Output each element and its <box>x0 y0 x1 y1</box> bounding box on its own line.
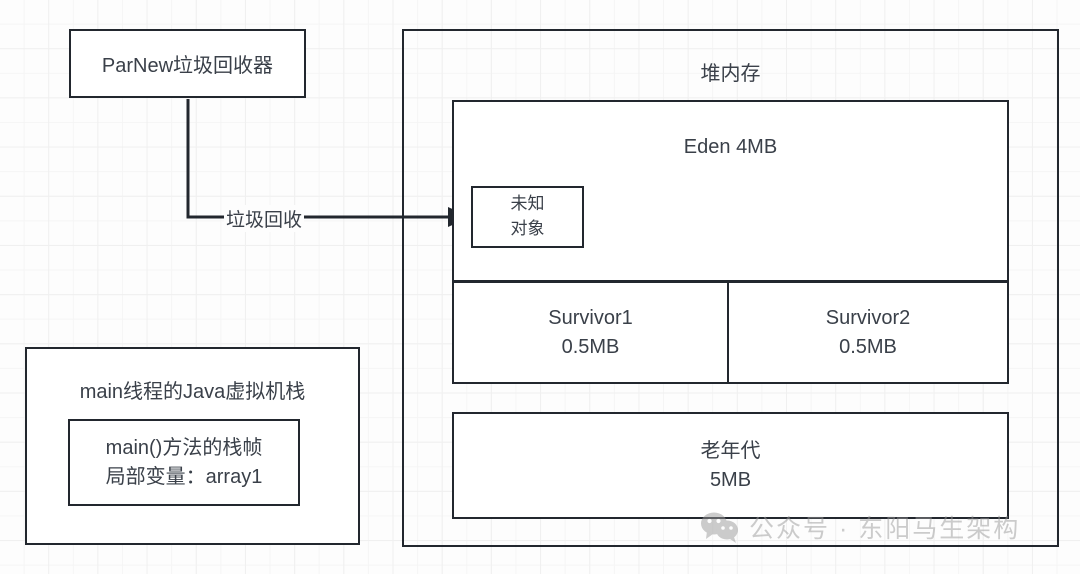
survivor2-size: 0.5MB <box>839 333 897 362</box>
stack-frame-line-2: 局部变量：array1 <box>106 463 263 491</box>
old-generation-box: 老年代 5MB <box>452 412 1009 519</box>
survivor2-cell: Survivor2 0.5MB <box>729 283 1007 382</box>
gc-edge-label: 垃圾回收 <box>224 205 304 232</box>
heap-memory-title: 堆内存 <box>404 57 1057 86</box>
jvm-stack-title: main线程的Java虚拟机栈 <box>27 375 358 404</box>
survivor-row: Survivor1 0.5MB Survivor2 0.5MB <box>452 281 1009 384</box>
watermark-text: 公众号 · 东阳马生架构 <box>749 509 1020 545</box>
survivor1-size: 0.5MB <box>562 333 620 362</box>
watermark: 公众号 · 东阳马生架构 <box>700 509 1020 545</box>
parnew-collector-box: ParNew垃圾回收器 <box>69 29 306 98</box>
survivor1-name: Survivor1 <box>548 304 632 333</box>
wechat-icon <box>700 511 740 543</box>
survivor2-name: Survivor2 <box>826 304 910 333</box>
old-generation-name: 老年代 <box>701 437 761 466</box>
unknown-object-line-1: 未知 <box>511 192 545 217</box>
stack-frame-line-1: main()方法的栈帧 <box>106 434 263 462</box>
old-generation-size: 5MB <box>710 466 751 495</box>
parnew-collector-label: ParNew垃圾回收器 <box>102 49 273 78</box>
unknown-object-box: 未知 对象 <box>471 186 584 248</box>
stack-frame-box: main()方法的栈帧 局部变量：array1 <box>68 419 300 506</box>
unknown-object-line-2: 对象 <box>511 217 545 242</box>
survivor1-cell: Survivor1 0.5MB <box>454 283 729 382</box>
diagram-canvas: ParNew垃圾回收器 垃圾回收 main线程的Java虚拟机栈 main()方… <box>0 0 1080 574</box>
eden-region-title: Eden 4MB <box>454 136 1007 159</box>
